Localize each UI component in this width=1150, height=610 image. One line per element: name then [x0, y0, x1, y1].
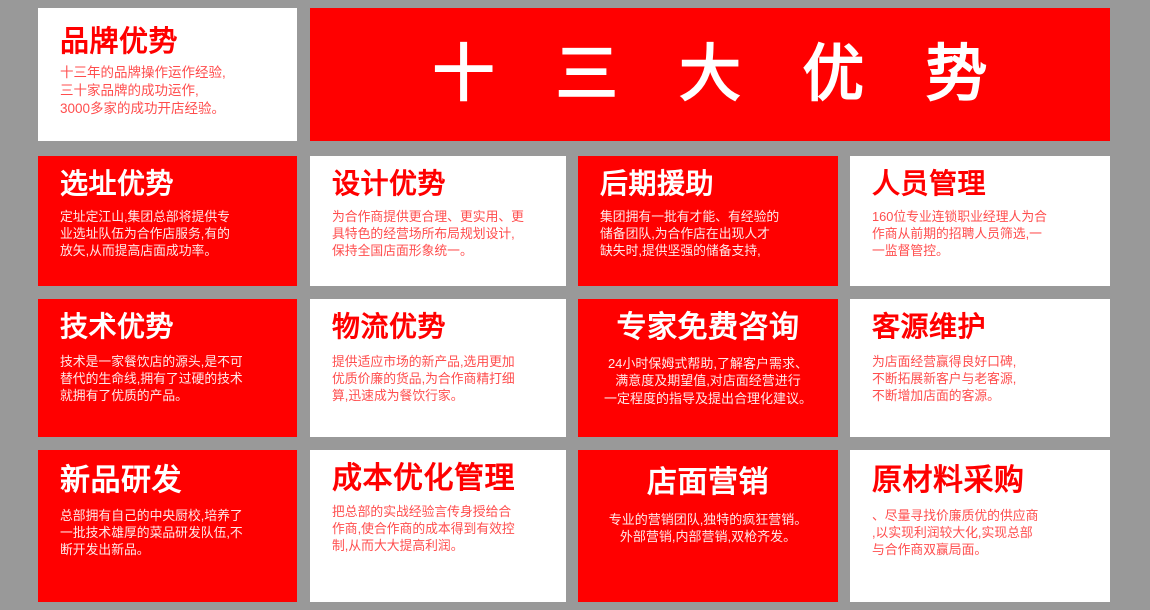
card-body-line: 专业的营销团队,独特的疯狂营销。 — [588, 511, 828, 529]
card-title: 成本优化管理 — [332, 464, 558, 495]
feature-card-raw-material-purchasing[interactable]: 原材料采购 、尽量寻找价廉质优的供应商 ,以实现利润较大化,实现总部 与合作商双… — [850, 450, 1110, 602]
card-body-line: 十三年的品牌操作运作经验, — [60, 64, 297, 82]
card-body-line: 外部营销,内部营销,双枪齐发。 — [588, 528, 828, 546]
card-body-line: 一批技术雄厚的菜品研发队伍,不 — [60, 524, 289, 541]
card-body-line: 一监督管控。 — [872, 242, 1102, 259]
card-body-line: 保持全国店面形象统一。 — [332, 242, 558, 259]
card-body-line: 具特色的经营场所布局规划设计, — [332, 225, 558, 242]
card-body-line: 满意度及期望值,对店面经营进行 — [588, 372, 828, 390]
card-body-line: 不断拓展新客户与老客源, — [872, 370, 1102, 387]
feature-card-new-product-rnd[interactable]: 新品研发 总部拥有自己的中央厨校,培养了 一批技术雄厚的菜品研发队伍,不 断开发… — [38, 450, 297, 602]
infographic-board: 品牌优势 十三年的品牌操作运作经验, 三十家品牌的成功运作, 3000多家的成功… — [0, 0, 1150, 610]
card-body-line: 集团拥有一批有才能、有经验的 — [600, 208, 830, 225]
card-body-line: 三十家品牌的成功运作, — [60, 82, 297, 100]
card-title: 客源维护 — [872, 313, 1102, 342]
feature-card-customer-retention[interactable]: 客源维护 为店面经营赢得良好口碑, 不断拓展新客户与老客源, 不断增加店面的客源… — [850, 299, 1110, 437]
card-body-line: 、尽量寻找价廉质优的供应商 — [872, 507, 1102, 524]
card-body-line: 把总部的实战经验言传身授给合 — [332, 503, 558, 520]
card-body-line: 作商,使合作商的成本得到有效控 — [332, 520, 558, 537]
card-body: 24小时保姆式帮助,了解客户需求、 满意度及期望值,对店面经营进行 一定程度的指… — [588, 355, 828, 408]
card-title: 技术优势 — [60, 313, 289, 342]
card-body-line: 制,从而大大提高利润。 — [332, 537, 558, 554]
card-body: 集团拥有一批有才能、有经验的 储备团队,为合作店在出现人才 缺失时,提供坚强的储… — [600, 208, 830, 260]
card-body-line: 优质价廉的货品,为合作商精打细 — [332, 370, 558, 387]
feature-card-logistics[interactable]: 物流优势 提供适应市场的新产品,选用更加 优质价廉的货品,为合作商精打细 算,迅… — [310, 299, 566, 437]
card-body-line: 放矢,从而提高店面成功率。 — [60, 242, 289, 259]
card-body-line: 160位专业连锁职业经理人为合 — [872, 208, 1102, 225]
card-body: 160位专业连锁职业经理人为合 作商从前期的招聘人员筛选,一 一监督管控。 — [872, 208, 1102, 260]
card-body-line: 为合作商提供更合理、更实用、更 — [332, 208, 558, 225]
card-body-line: 与合作商双赢局面。 — [872, 541, 1102, 558]
card-body: 定址定江山,集团总部将提供专 业选址队伍为合作店服务,有的 放矢,从而提高店面成… — [60, 208, 289, 260]
card-body: 把总部的实战经验言传身授给合 作商,使合作商的成本得到有效控 制,从而大大提高利… — [332, 503, 558, 555]
card-title: 品牌优势 — [60, 28, 297, 58]
card-body-line: 不断增加店面的客源。 — [872, 387, 1102, 404]
card-title: 设计优势 — [332, 170, 558, 199]
feature-card-cost-optimization[interactable]: 成本优化管理 把总部的实战经验言传身授给合 作商,使合作商的成本得到有效控 制,… — [310, 450, 566, 602]
card-body-line: 提供适应市场的新产品,选用更加 — [332, 353, 558, 370]
card-title: 新品研发 — [60, 466, 289, 497]
card-body-line: 替代的生命线,拥有了过硬的技术 — [60, 370, 289, 387]
feature-card-brand-advantage[interactable]: 品牌优势 十三年的品牌操作运作经验, 三十家品牌的成功运作, 3000多家的成功… — [38, 8, 297, 141]
card-body-line: 一定程度的指导及提出合理化建议。 — [588, 390, 828, 408]
hero-title: 十 三 大 优 势 — [411, 44, 1010, 106]
card-body-line: 定址定江山,集团总部将提供专 — [60, 208, 289, 225]
card-body-line: 3000多家的成功开店经验。 — [60, 100, 297, 118]
feature-card-site-selection[interactable]: 选址优势 定址定江山,集团总部将提供专 业选址队伍为合作店服务,有的 放矢,从而… — [38, 156, 297, 286]
card-title: 店面营销 — [588, 468, 828, 499]
card-title: 后期援助 — [600, 170, 830, 199]
card-body: 技术是一家餐饮店的源头,是不可 替代的生命线,拥有了过硬的技术 就拥有了优质的产… — [60, 353, 289, 405]
feature-card-technology[interactable]: 技术优势 技术是一家餐饮店的源头,是不可 替代的生命线,拥有了过硬的技术 就拥有… — [38, 299, 297, 437]
card-title: 物流优势 — [332, 313, 558, 342]
card-body-line: ,以实现利润较大化,实现总部 — [872, 524, 1102, 541]
card-body: 提供适应市场的新产品,选用更加 优质价廉的货品,为合作商精打细 算,迅速成为餐饮… — [332, 353, 558, 405]
card-body-line: 技术是一家餐饮店的源头,是不可 — [60, 353, 289, 370]
card-body: 为合作商提供更合理、更实用、更 具特色的经营场所布局规划设计, 保持全国店面形象… — [332, 208, 558, 260]
card-body: 、尽量寻找价廉质优的供应商 ,以实现利润较大化,实现总部 与合作商双赢局面。 — [872, 507, 1102, 559]
card-title: 选址优势 — [60, 170, 289, 199]
feature-card-post-support[interactable]: 后期援助 集团拥有一批有才能、有经验的 储备团队,为合作店在出现人才 缺失时,提… — [578, 156, 838, 286]
card-body: 为店面经营赢得良好口碑, 不断拓展新客户与老客源, 不断增加店面的客源。 — [872, 353, 1102, 405]
card-body: 十三年的品牌操作运作经验, 三十家品牌的成功运作, 3000多家的成功开店经验。 — [60, 64, 297, 119]
card-body-line: 作商从前期的招聘人员筛选,一 — [872, 225, 1102, 242]
card-body-line: 就拥有了优质的产品。 — [60, 387, 289, 404]
card-body-line: 缺失时,提供坚强的储备支持, — [600, 242, 830, 259]
card-title: 人员管理 — [872, 170, 1102, 199]
feature-card-staff-management[interactable]: 人员管理 160位专业连锁职业经理人为合 作商从前期的招聘人员筛选,一 一监督管… — [850, 156, 1110, 286]
card-body-line: 总部拥有自己的中央厨校,培养了 — [60, 507, 289, 524]
card-body-line: 储备团队,为合作店在出现人才 — [600, 225, 830, 242]
card-body: 总部拥有自己的中央厨校,培养了 一批技术雄厚的菜品研发队伍,不 断开发出新品。 — [60, 507, 289, 559]
feature-card-store-marketing[interactable]: 店面营销 专业的营销团队,独特的疯狂营销。 外部营销,内部营销,双枪齐发。 — [578, 450, 838, 602]
card-body-line: 业选址队伍为合作店服务,有的 — [60, 225, 289, 242]
hero-banner: 十 三 大 优 势 — [310, 8, 1110, 141]
card-body: 专业的营销团队,独特的疯狂营销。 外部营销,内部营销,双枪齐发。 — [588, 511, 828, 546]
card-title: 专家免费咨询 — [588, 313, 828, 344]
feature-card-expert-consulting[interactable]: 专家免费咨询 24小时保姆式帮助,了解客户需求、 满意度及期望值,对店面经营进行… — [578, 299, 838, 437]
card-body-line: 算,迅速成为餐饮行家。 — [332, 387, 558, 404]
card-body-line: 为店面经营赢得良好口碑, — [872, 353, 1102, 370]
card-body-line: 24小时保姆式帮助,了解客户需求、 — [588, 355, 828, 373]
card-body-line: 断开发出新品。 — [60, 541, 289, 558]
card-title: 原材料采购 — [872, 466, 1102, 497]
feature-card-design[interactable]: 设计优势 为合作商提供更合理、更实用、更 具特色的经营场所布局规划设计, 保持全… — [310, 156, 566, 286]
